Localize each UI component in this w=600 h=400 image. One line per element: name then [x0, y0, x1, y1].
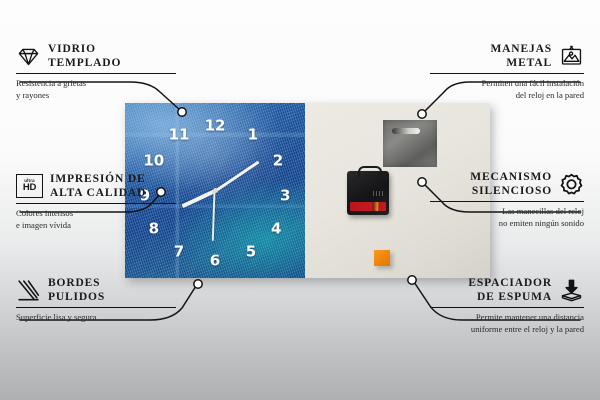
callout-header: VIDRIO TEMPLADO: [16, 42, 176, 70]
callout-title: BORDES PULIDOS: [48, 276, 105, 304]
clock-numeral: 1: [248, 127, 258, 142]
callout-description: Las manecillas del reloj no emiten ningú…: [430, 206, 584, 229]
callout-desc-line2: uniforme entre el reloj y la pared: [430, 324, 584, 336]
clock-numeral: 5: [246, 244, 256, 259]
foam-spacer-icon: [559, 278, 584, 303]
foam-spacer: [374, 250, 390, 266]
callout-manejas-metal[interactable]: MANEJAS METAL Permiten una fácil instala…: [430, 42, 584, 102]
clock-numeral: 4: [271, 222, 281, 237]
clock-numeral: 7: [174, 244, 184, 259]
divider: [16, 73, 176, 74]
callout-title-line2: DE ESPUMA: [468, 290, 552, 304]
callout-title: IMPRESIÓN DE ALTA CALIDAD: [50, 172, 146, 200]
battery-compartment: [350, 202, 386, 211]
ultra-hd-icon: ultra HD: [16, 174, 43, 198]
callout-desc-line2: del reloj en la pared: [430, 90, 584, 102]
clock-numeral: 2: [273, 153, 283, 168]
callout-description: Superficie lisa y segura: [16, 312, 176, 324]
callout-description: Resistencia a grietas y rayones: [16, 78, 176, 101]
callout-title-line2: PULIDOS: [48, 290, 105, 304]
callout-desc-line1: Colores intensos: [16, 208, 176, 220]
clock-numeral: 11: [169, 127, 190, 142]
callout-header: ultra HD IMPRESIÓN DE ALTA CALIDAD: [16, 172, 176, 200]
mechanism-detail: [373, 191, 385, 196]
callout-desc-line1: Superficie lisa y segura: [16, 312, 176, 324]
callout-header: MANEJAS METAL: [430, 42, 584, 70]
divider: [16, 203, 176, 204]
callout-desc-line1: Las manecillas del reloj: [430, 206, 584, 218]
callout-title-line2: SILENCIOSO: [470, 184, 552, 198]
clock-center-cap: [213, 188, 218, 193]
callout-title-line1: ESPACIADOR: [468, 276, 552, 290]
clock-minute-hand: [214, 160, 259, 192]
diamond-icon: [16, 44, 41, 69]
callout-title-line1: MANEJAS: [490, 42, 552, 56]
callout-desc-line1: Permiten una fácil instalación: [430, 78, 584, 90]
metal-hanger-plate: [383, 120, 437, 167]
divider: [16, 307, 176, 308]
callout-vidrio-templado[interactable]: VIDRIO TEMPLADO Resistencia a grietas y …: [16, 42, 176, 102]
callout-description: Permiten una fácil instalación del reloj…: [430, 78, 584, 101]
divider: [430, 201, 584, 202]
gear-icon: [559, 172, 584, 197]
clock-hour-hand: [182, 189, 216, 208]
picture-frame-icon: [559, 44, 584, 69]
callout-header: BORDES PULIDOS: [16, 276, 176, 304]
callout-desc-line1: Resistencia a grietas: [16, 78, 176, 90]
clock-second-hand: [213, 190, 216, 240]
callout-description: Colores intensos e imagen vívida: [16, 208, 176, 231]
mechanism-handle: [358, 166, 382, 177]
callout-title-line2: TEMPLADO: [48, 56, 121, 70]
callout-title-line1: IMPRESIÓN DE: [50, 172, 146, 186]
clock-numeral: 6: [210, 253, 220, 268]
callout-header: MECANISMO SILENCIOSO: [430, 170, 584, 198]
callout-bordes-pulidos[interactable]: BORDES PULIDOS Superficie lisa y segura: [16, 276, 176, 324]
callout-desc-line2: y rayones: [16, 90, 176, 102]
callout-desc-line1: Permite mantener una distancia: [430, 312, 584, 324]
clock-mechanism: [347, 171, 389, 215]
callout-desc-line2: e imagen vívida: [16, 220, 176, 232]
callout-title: MECANISMO SILENCIOSO: [470, 170, 552, 198]
callout-title-line1: BORDES: [48, 276, 105, 290]
clock-numeral: 10: [143, 153, 164, 168]
callout-title-line2: METAL: [490, 56, 552, 70]
divider: [430, 307, 584, 308]
callout-espaciador-espuma[interactable]: ESPACIADOR DE ESPUMA Permite mantener un…: [430, 276, 584, 336]
callout-title: VIDRIO TEMPLADO: [48, 42, 121, 70]
infographic-canvas: 12 1 2 3 4 5 6 7 8 9 10 11: [0, 0, 600, 400]
callout-title-line2: ALTA CALIDAD: [50, 186, 146, 200]
clock-numeral: 3: [280, 188, 290, 203]
leader-dot-bordes: [194, 280, 202, 288]
clock-numeral: 12: [205, 118, 226, 133]
divider: [430, 73, 584, 74]
callout-mecanismo-silencioso[interactable]: MECANISMO SILENCIOSO Las manecillas del …: [430, 170, 584, 230]
hanger-slot: [392, 128, 420, 134]
callout-title-line1: MECANISMO: [470, 170, 552, 184]
polished-edges-icon: [16, 278, 41, 303]
callout-desc-line2: no emiten ningún sonido: [430, 218, 584, 230]
callout-title: ESPACIADOR DE ESPUMA: [468, 276, 552, 304]
callout-description: Permite mantener una distancia uniforme …: [430, 312, 584, 335]
callout-title: MANEJAS METAL: [490, 42, 552, 70]
callout-impresion-alta-calidad[interactable]: ultra HD IMPRESIÓN DE ALTA CALIDAD Color…: [16, 172, 176, 232]
callout-header: ESPACIADOR DE ESPUMA: [430, 276, 584, 304]
callout-title-line1: VIDRIO: [48, 42, 121, 56]
ultra-hd-icon-large-text: HD: [23, 183, 36, 193]
